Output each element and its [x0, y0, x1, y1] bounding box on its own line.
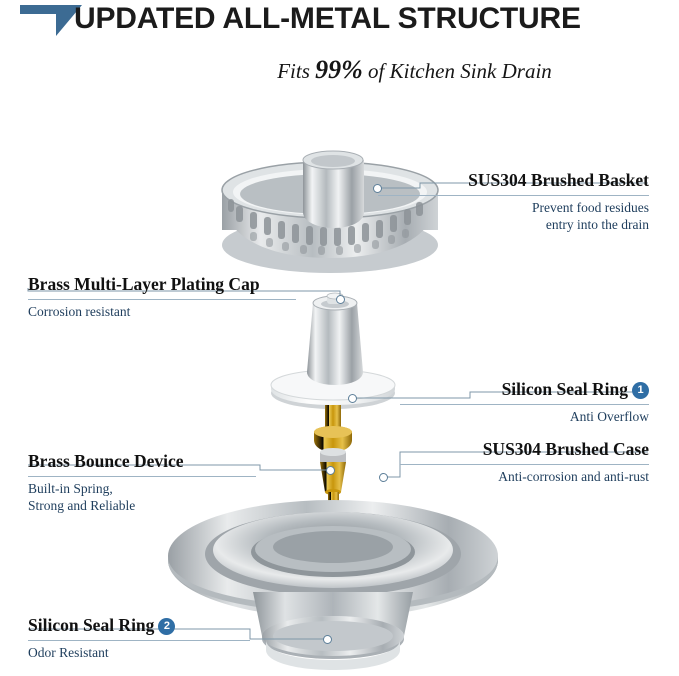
- brass-bounce-device-graphic: [314, 405, 352, 511]
- callout-seal-ring-1-text: Silicon Seal Ring: [502, 379, 628, 399]
- callout-seal-ring-2-text: Silicon Seal Ring: [28, 615, 154, 635]
- callout-bounce-device-rule: [28, 476, 256, 477]
- callout-seal-ring-1-title: Silicon Seal Ring1: [400, 379, 649, 400]
- callout-basket-rule: [378, 195, 649, 196]
- leader-dot-bounce: [326, 466, 335, 475]
- callout-basket: SUS304 Brushed Basket Prevent food resid…: [378, 170, 649, 233]
- callout-cap-rule: [28, 299, 296, 300]
- callout-case-rule: [400, 464, 649, 465]
- callout-bounce-device-title: Brass Bounce Device: [28, 451, 256, 472]
- callout-seal-ring-2-badge: 2: [158, 618, 175, 635]
- leader-dot-seal-ring-2: [323, 635, 332, 644]
- callout-case-sub: Anti-corrosion and anti-rust: [400, 468, 649, 485]
- callout-seal-ring-2: Silicon Seal Ring2 Odor Resistant: [28, 615, 250, 661]
- callout-basket-sub: Prevent food residuesentry into the drai…: [378, 199, 649, 233]
- callout-bounce-device: Brass Bounce Device Built-in Spring,Stro…: [28, 451, 256, 514]
- callout-seal-ring-1-rule: [400, 404, 649, 405]
- callout-case-title: SUS304 Brushed Case: [400, 439, 649, 460]
- callout-seal-ring-1: Silicon Seal Ring1 Anti Overflow: [400, 379, 649, 425]
- callout-seal-ring-2-sub: Odor Resistant: [28, 644, 250, 661]
- leader-dot-cap: [336, 295, 345, 304]
- leader-dot-seal-ring-1: [348, 394, 357, 403]
- leader-dot-case: [379, 473, 388, 482]
- callout-seal-ring-2-rule: [28, 640, 250, 641]
- callout-seal-ring-2-title: Silicon Seal Ring2: [28, 615, 250, 636]
- exploded-product-illustration: [0, 0, 679, 676]
- callout-case: SUS304 Brushed Case Anti-corrosion and a…: [400, 439, 649, 485]
- callout-basket-title: SUS304 Brushed Basket: [378, 170, 649, 191]
- callout-seal-ring-1-sub: Anti Overflow: [400, 408, 649, 425]
- product-diagram: UPDATED ALL-METAL STRUCTURE Fits 99% of …: [0, 0, 679, 676]
- callout-seal-ring-1-badge: 1: [632, 382, 649, 399]
- callout-cap: Brass Multi-Layer Plating Cap Corrosion …: [28, 274, 296, 320]
- callout-cap-title: Brass Multi-Layer Plating Cap: [28, 274, 296, 295]
- callout-bounce-device-sub: Built-in Spring,Strong and Reliable: [28, 480, 256, 514]
- callout-cap-sub: Corrosion resistant: [28, 303, 296, 320]
